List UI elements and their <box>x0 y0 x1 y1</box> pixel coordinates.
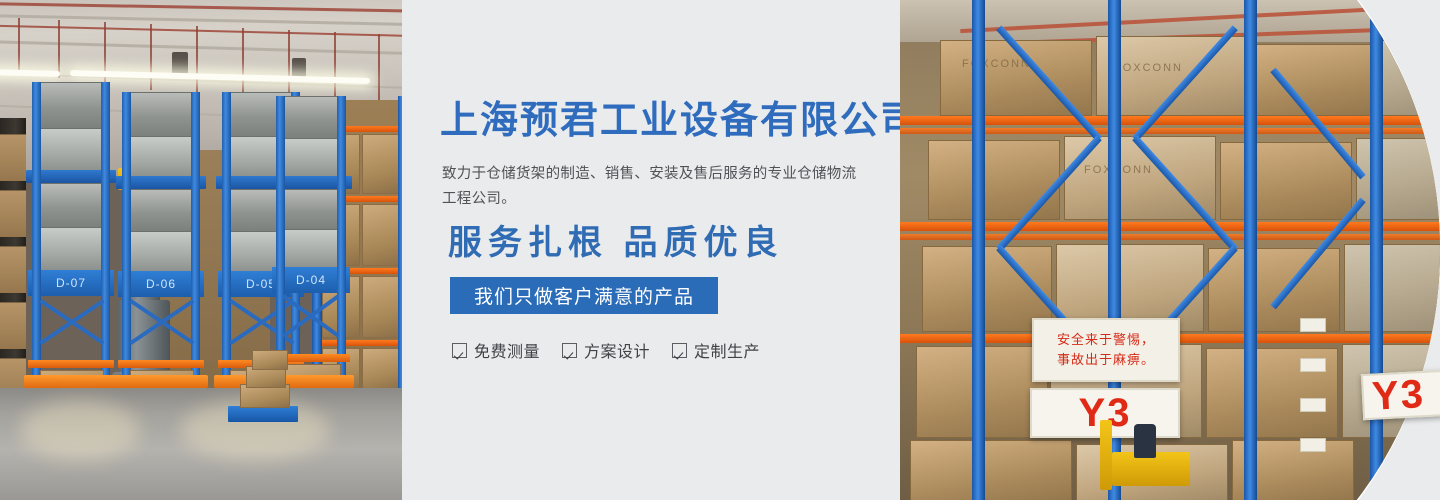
feature-item: 免费测量 <box>452 338 540 362</box>
checkbox-checked-icon <box>562 343 577 358</box>
safety-sign-line: 事故出于麻痹。 <box>1057 350 1155 370</box>
page-title: 上海预君工业设备有限公司 <box>440 102 920 140</box>
floor-carton <box>252 350 288 370</box>
sprinkler-drop <box>196 26 198 96</box>
rack-upright <box>972 0 985 500</box>
tote <box>128 136 192 178</box>
tote <box>128 231 192 273</box>
feature-label: 免费测量 <box>474 338 540 362</box>
tote <box>281 138 339 178</box>
forklift-operator <box>1134 424 1156 458</box>
rack-upright <box>276 96 285 388</box>
circle-photo-mask: FOXCONN FOXCONN FOXCONN <box>900 0 1440 500</box>
right-photo-frame: FOXCONN FOXCONN FOXCONN <box>900 0 1440 500</box>
tote <box>38 227 102 271</box>
carton <box>910 440 1072 500</box>
feature-label: 定制生产 <box>694 338 760 362</box>
page-subtitle: 致力于仓储货架的制造、销售、安装及售后服务的专业仓储物流工程公司。 <box>442 162 862 213</box>
feature-label: 方案设计 <box>584 338 650 362</box>
side-pallet <box>0 134 26 181</box>
hero-banner: D-07 D-06 <box>0 0 1440 500</box>
feature-item: 定制生产 <box>672 338 760 362</box>
checkbox-checked-icon <box>452 343 467 358</box>
ceiling-vent <box>172 52 188 74</box>
checkbox-checked-icon <box>672 343 687 358</box>
carton <box>362 134 402 194</box>
aisle-code-text-right: Y3 <box>1371 374 1426 417</box>
sprinkler-drop <box>150 24 152 90</box>
background-upright <box>398 96 402 396</box>
right-warehouse-photo: FOXCONN FOXCONN FOXCONN <box>900 0 1440 500</box>
slogan: 服务扎根 品质优良 <box>448 226 783 260</box>
safety-sign: 安全来于警惕， 事故出于麻痹。 <box>1032 318 1180 382</box>
rack-upright <box>1370 0 1383 500</box>
left-photo-scene: D-07 D-06 <box>0 0 402 500</box>
sprinkler-drop <box>18 18 20 70</box>
right-photo-scene: FOXCONN FOXCONN FOXCONN <box>900 0 1440 500</box>
forklift-mast <box>1100 420 1112 490</box>
carton <box>362 204 402 266</box>
carton <box>1344 244 1440 332</box>
tote <box>281 189 339 231</box>
rack-column: D-07 <box>32 82 110 388</box>
carton <box>1378 40 1440 116</box>
feature-list: 免费测量 方案设计 定制生产 <box>452 338 760 362</box>
rack-upright <box>337 96 346 388</box>
carton-brand-label: FOXCONN <box>1114 62 1183 74</box>
tote <box>281 229 339 269</box>
rack-beam <box>118 360 204 368</box>
carton <box>1220 142 1352 220</box>
floor-pallet <box>228 406 298 422</box>
rack-upright <box>1244 0 1257 500</box>
rack-upright <box>122 92 131 388</box>
tote <box>128 189 192 233</box>
sprinkler-drop <box>58 20 60 78</box>
location-label <box>1300 358 1326 372</box>
rack-column: D-04 <box>276 96 346 388</box>
left-warehouse-photo: D-07 D-06 <box>0 0 402 500</box>
tote <box>281 96 339 140</box>
side-pallet <box>0 302 26 349</box>
rack-base <box>114 375 208 388</box>
floor-light-reflection <box>20 400 140 460</box>
tote <box>128 92 192 138</box>
feature-item: 方案设计 <box>562 338 650 362</box>
sprinkler-drop <box>242 28 244 102</box>
rack-beam <box>28 360 114 368</box>
aisle-code-sign-right: Y3 <box>1361 370 1440 420</box>
side-pallet <box>0 246 26 293</box>
location-label <box>1300 438 1326 452</box>
cta-button[interactable]: 我们只做客户满意的产品 <box>450 277 718 314</box>
rack-base <box>24 375 118 388</box>
tote <box>38 183 102 229</box>
carton <box>1252 44 1374 116</box>
tote <box>38 82 102 130</box>
location-label <box>1300 318 1326 332</box>
banner-content: 上海预君工业设备有限公司 致力于仓储货架的制造、销售、安装及售后服务的专业仓储物… <box>440 0 910 500</box>
location-label <box>1300 398 1326 412</box>
tote <box>38 128 102 172</box>
safety-sign-line: 安全来于警惕， <box>1057 330 1155 350</box>
carton <box>362 276 402 338</box>
rack-column: D-06 <box>122 92 200 388</box>
side-pallet <box>0 190 26 237</box>
carton <box>1356 138 1440 220</box>
carton <box>362 348 402 390</box>
rack-upright <box>222 92 231 388</box>
